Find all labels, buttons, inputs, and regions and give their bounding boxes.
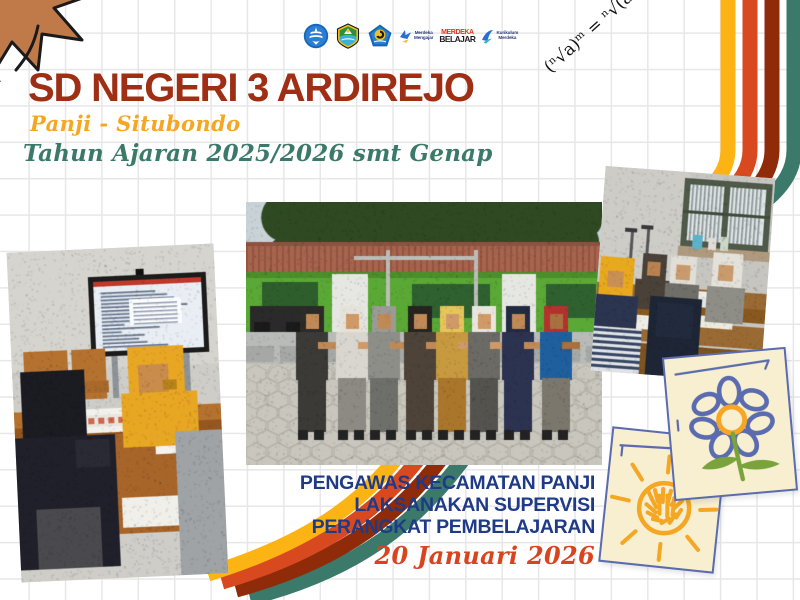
photo-group-schoolyard bbox=[246, 202, 602, 465]
headline-block: PENGAWAS KECAMATAN PANJI LAKSANAKAN SUPE… bbox=[250, 472, 595, 538]
event-date: 20 Januari 2026 bbox=[250, 541, 595, 570]
school-name-title: SD NEGERI 3 ARDIREJO bbox=[28, 66, 474, 111]
academic-year-text: Tahun Ajaran 2025/2026 smt Genap bbox=[23, 140, 493, 167]
merdeka-mengajar-line2: Mengajar bbox=[414, 36, 433, 41]
logo-row: Merdeka Mengajar MERDEKA BELAJAR Kurikul… bbox=[303, 21, 518, 51]
photo-supervision-desk bbox=[7, 243, 229, 582]
merdeka-mengajar-logo: Merdeka Mengajar bbox=[399, 28, 433, 44]
doodle-card-flower bbox=[662, 347, 798, 501]
kurikulum-merdeka-logo: Kurikulum Merdeka bbox=[481, 28, 518, 44]
situbondo-regional-crest-logo bbox=[335, 23, 361, 49]
kurikulum-merdeka-swoosh-icon bbox=[481, 28, 494, 44]
merdeka-belajar-line2: BELAJAR bbox=[439, 36, 475, 43]
merdeka-mengajar-bird-icon bbox=[399, 28, 412, 44]
school-location-subtitle: Panji - Situbondo bbox=[30, 111, 241, 136]
flower-doodle-icon bbox=[664, 349, 796, 499]
poster-canvas: Merdeka Mengajar MERDEKA BELAJAR Kurikul… bbox=[0, 0, 800, 600]
kemendikbud-pentagon-logo bbox=[367, 23, 393, 49]
headline-line-3: PERANGKAT PEMBELAJARAN bbox=[250, 516, 595, 538]
headline-line-1: PENGAWAS KECAMATAN PANJI bbox=[250, 472, 595, 494]
handwritten-math-formula: (ⁿ√a)ᵐ = ⁿ√(aᵐ) = amn bbox=[540, 0, 666, 78]
merdeka-belajar-logo: MERDEKA BELAJAR bbox=[439, 29, 475, 43]
kurikulum-merdeka-line2: Merdeka bbox=[498, 36, 516, 41]
headline-line-2: LAKSANAKAN SUPERVISI bbox=[250, 494, 595, 516]
tut-wuri-handayani-logo bbox=[303, 23, 329, 49]
formula-text: (ⁿ√a)ᵐ = ⁿ√(aᵐ) = a bbox=[540, 0, 675, 77]
